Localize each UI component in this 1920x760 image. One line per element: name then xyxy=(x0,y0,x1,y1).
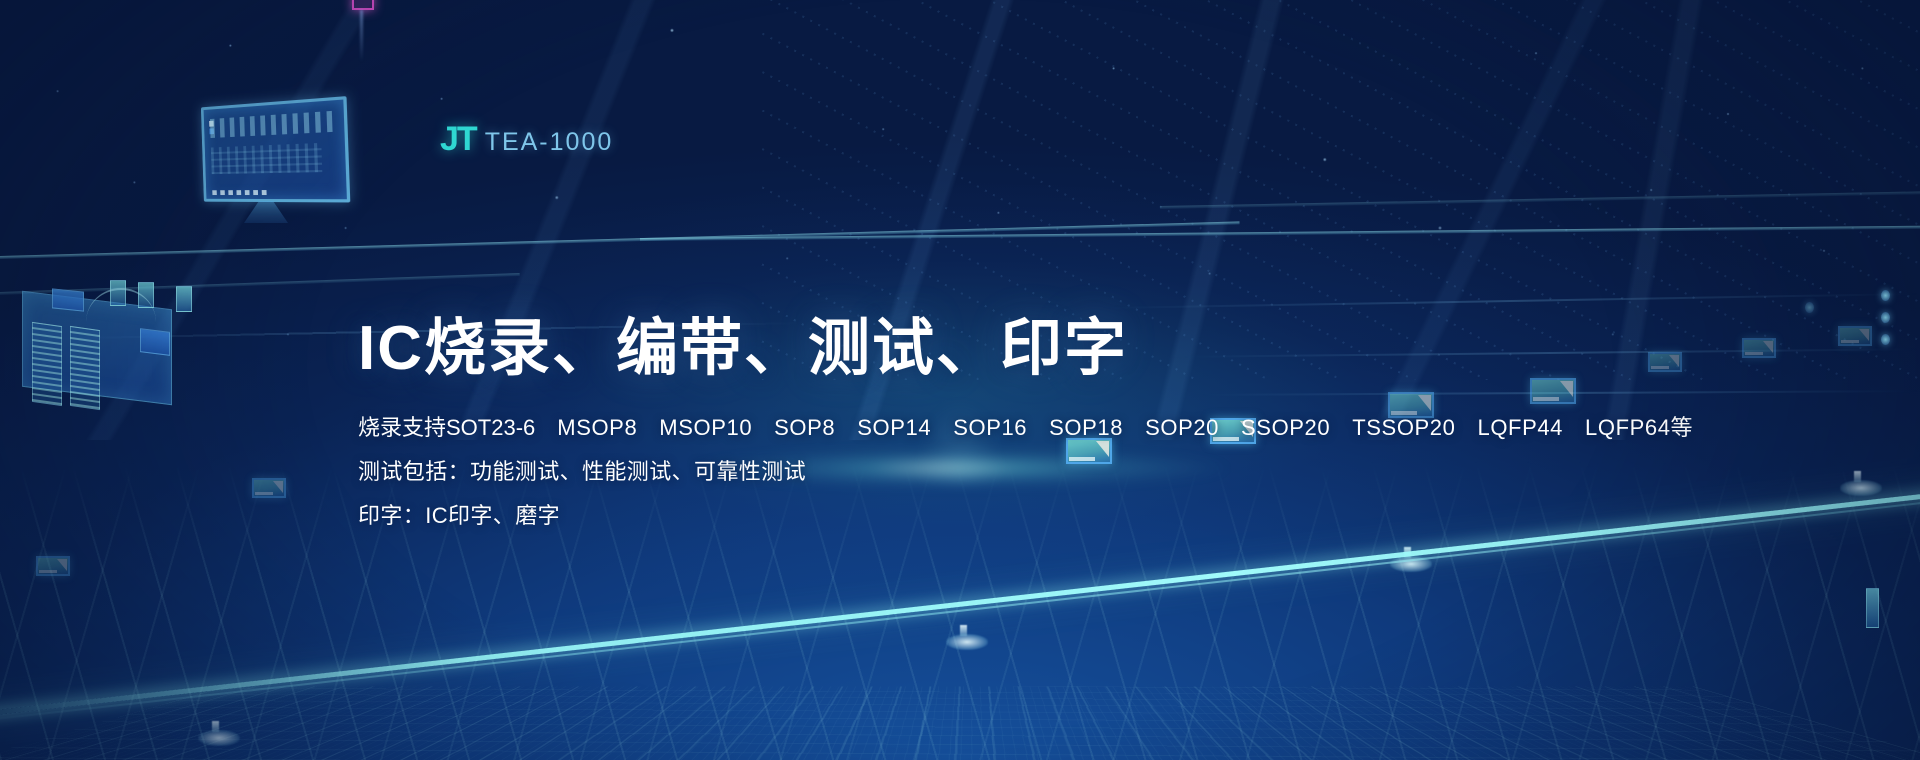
ceiling-rail-right xyxy=(640,226,1920,241)
marking-services-line: 印字：IC印字、磨字 xyxy=(358,505,1658,527)
machine-module-side xyxy=(140,328,170,356)
machine-module-top xyxy=(52,288,84,311)
package-sop20: SOP20 xyxy=(1145,417,1219,439)
machinery-illustration xyxy=(14,266,204,446)
package-ssop20: SSOP20 xyxy=(1241,417,1330,439)
machine-hose xyxy=(86,288,156,322)
marker-light-beam xyxy=(360,10,363,62)
floor-pad xyxy=(1390,556,1432,572)
hero-banner: JT TEA-1000 xyxy=(0,0,1920,760)
package-msop8: MSOP8 xyxy=(557,417,637,439)
service-details: 烧录支持SOT23-6 MSOP8 MSOP10 SOP8 SOP14 SOP1… xyxy=(358,417,1658,527)
monitor-chip-row xyxy=(210,111,337,138)
machine-body xyxy=(22,291,172,405)
monitor-taskbar xyxy=(212,190,269,195)
ceiling-rail-lower-left xyxy=(0,273,520,295)
monitor-screen xyxy=(201,96,350,202)
machine-cylinder-1 xyxy=(110,280,126,306)
monitor-data-grid xyxy=(211,143,322,174)
monitor-led-blue xyxy=(209,128,214,134)
magenta-marker-icon xyxy=(352,0,374,10)
ic-chip-icon xyxy=(1742,338,1776,358)
supported-packages-line: 烧录支持SOT23-6 MSOP8 MSOP10 SOP8 SOP14 SOP1… xyxy=(358,417,1658,439)
floor-pad xyxy=(1840,480,1882,496)
indicator-light xyxy=(1881,290,1890,301)
floor-pad xyxy=(198,730,240,746)
indicator-light xyxy=(1881,334,1890,345)
indicator-light xyxy=(1805,302,1814,313)
machine-cylinder-3 xyxy=(176,286,192,312)
ic-chip-icon xyxy=(36,556,70,576)
floor-pad xyxy=(946,634,988,650)
model-number: TEA-1000 xyxy=(485,128,614,157)
banner-content: IC烧录、编带、测试、印字 烧录支持SOT23-6 MSOP8 MSOP10 S… xyxy=(358,316,1658,549)
package-lqfp64: LQFP64等 xyxy=(1585,417,1693,439)
ceiling-rail-upper-right xyxy=(1160,191,1920,209)
chip-notch xyxy=(1669,355,1679,367)
monitor-illustration xyxy=(196,102,346,202)
ic-chip-icon xyxy=(1838,326,1872,346)
chip-notch xyxy=(57,559,67,571)
package-lqfp44: LQFP44 xyxy=(1477,417,1563,439)
chip-notch xyxy=(1859,329,1869,341)
soft-beam-2 xyxy=(1100,293,1920,309)
package-msop10: MSOP10 xyxy=(659,417,752,439)
chip-notch xyxy=(1763,341,1773,353)
monitor-led-white xyxy=(209,121,214,127)
chip-package xyxy=(1742,338,1776,358)
monitor-stand xyxy=(244,201,288,223)
chip-tape xyxy=(1841,340,1859,343)
ic-chip-icon xyxy=(252,478,286,498)
testing-services-line: 测试包括：功能测试、性能测试、可靠性测试 xyxy=(358,461,1658,483)
indicator-light xyxy=(1881,312,1890,323)
chip-package xyxy=(36,556,70,576)
chip-notch xyxy=(273,481,283,493)
page-title: IC烧录、编带、测试、印字 xyxy=(358,316,1658,383)
circuit-floor-pattern xyxy=(0,686,1920,760)
package-sop16: SOP16 xyxy=(953,417,1027,439)
machine-cylinder-2 xyxy=(138,282,154,308)
package-tssop20: TSSOP20 xyxy=(1352,417,1455,439)
ceiling-rail-left xyxy=(0,221,1240,259)
package-sop8: SOP8 xyxy=(774,417,835,439)
chip-package xyxy=(252,478,286,498)
chip-package xyxy=(1838,326,1872,346)
chip-tape xyxy=(1745,352,1763,355)
chip-tape xyxy=(255,492,273,495)
machine-fin-right xyxy=(70,326,100,410)
package-sop18: SOP18 xyxy=(1049,417,1123,439)
right-panel-strip xyxy=(1866,588,1879,628)
brand-mark: JT xyxy=(440,120,476,159)
package-sop14: SOP14 xyxy=(857,417,931,439)
chip-tape xyxy=(39,570,57,573)
machine-logo: JT TEA-1000 xyxy=(440,120,613,159)
machine-fin-left xyxy=(32,322,62,406)
packages-lead-label: 烧录支持SOT23-6 xyxy=(358,417,535,439)
